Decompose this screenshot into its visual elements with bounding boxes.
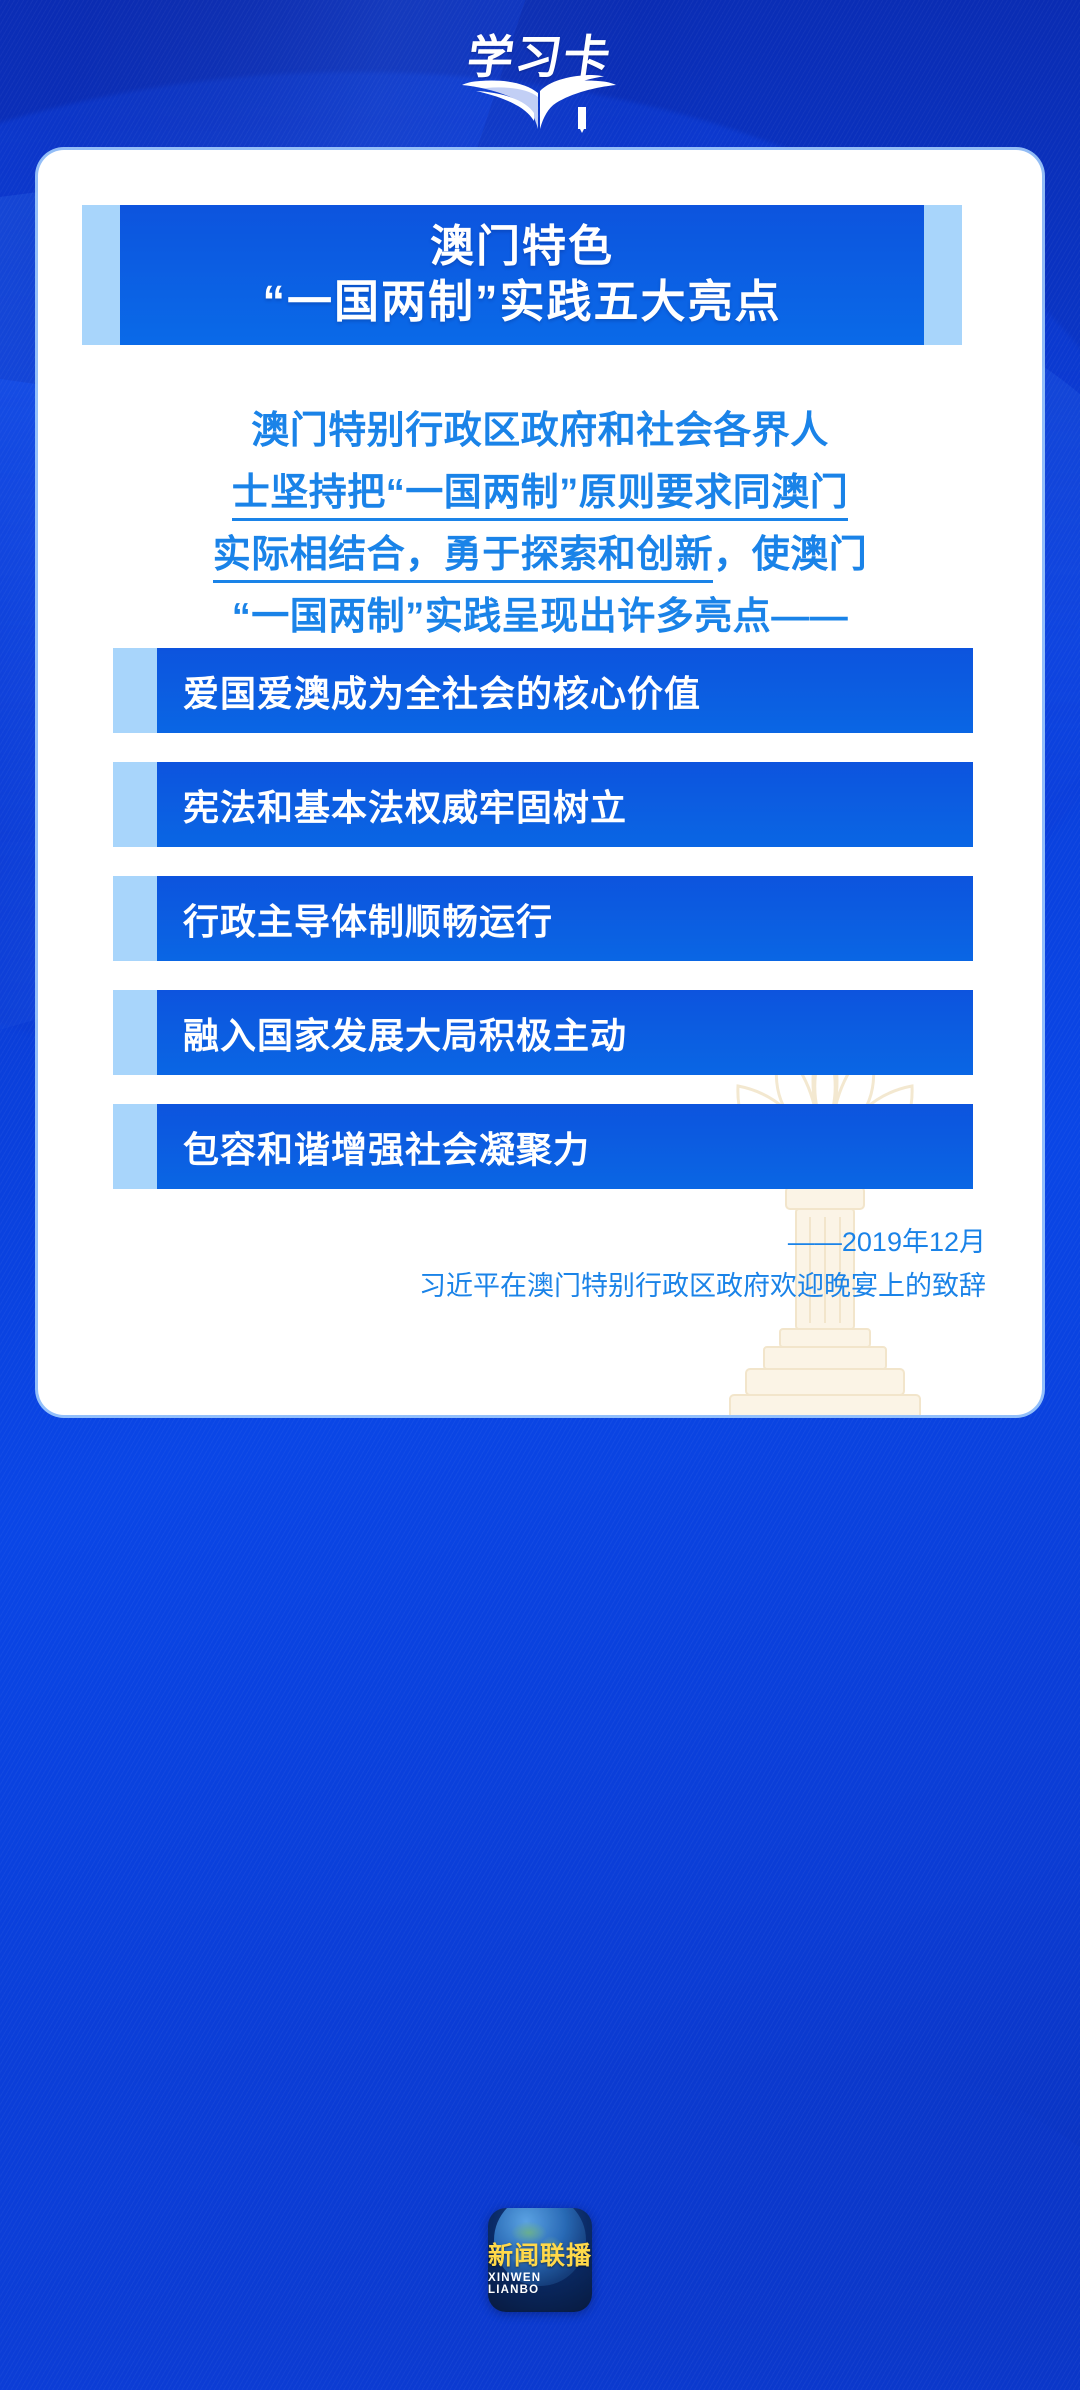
badge-title-en: XINWEN LIANBO bbox=[488, 2273, 592, 2296]
banner-body: 澳门特色 “一国两制”实践五大亮点 bbox=[120, 205, 924, 345]
page-title-line-1: 澳门特色 bbox=[430, 220, 614, 274]
attribution-source: 习近平在澳门特别行政区政府欢迎晚宴上的致辞 bbox=[419, 1264, 986, 1308]
highlight-item-1[interactable]: 爱国爱澳成为全社会的核心价值 bbox=[113, 648, 973, 733]
highlight-body: 爱国爱澳成为全社会的核心价值 bbox=[157, 648, 973, 733]
attribution-date: ——2019年12月 bbox=[419, 1220, 986, 1264]
header: 学习卡 bbox=[0, 0, 1080, 150]
content-card: 澳门特色 “一国两制”实践五大亮点 澳门特别行政区政府和社会各界人 士坚持把“一… bbox=[38, 150, 1042, 1415]
paragraph-line-3: 实际相结合，勇于探索和创新，使澳门 bbox=[98, 524, 982, 586]
paragraph-line-3-tail: ，使澳门 bbox=[713, 534, 867, 576]
page-title-line-2: “一国两制”实践五大亮点 bbox=[262, 275, 781, 330]
highlight-body: 行政主导体制顺畅运行 bbox=[157, 876, 973, 961]
open-book-icon bbox=[460, 63, 620, 133]
highlight-body: 宪法和基本法权威牢固树立 bbox=[157, 762, 973, 847]
paragraph-line-3-underlined: 实际相结合，勇于探索和创新 bbox=[213, 534, 714, 583]
intro-paragraph: 澳门特别行政区政府和社会各界人 士坚持把“一国两制”原则要求同澳门 实际相结合，… bbox=[98, 400, 982, 648]
highlight-label: 融入国家发展大局积极主动 bbox=[183, 1007, 627, 1059]
highlight-item-2[interactable]: 宪法和基本法权威牢固树立 bbox=[113, 762, 973, 847]
xinwen-lianbo-badge[interactable]: 新闻联播 XINWEN LIANBO bbox=[488, 2208, 592, 2312]
highlight-list: 爱国爱澳成为全社会的核心价值 宪法和基本法权威牢固树立 行政主导体制顺畅运行 融… bbox=[113, 648, 973, 1218]
paragraph-line-1: 澳门特别行政区政府和社会各界人 bbox=[98, 400, 982, 462]
highlight-item-5[interactable]: 包容和谐增强社会凝聚力 bbox=[113, 1104, 973, 1189]
highlight-body: 包容和谐增强社会凝聚力 bbox=[157, 1104, 973, 1189]
highlight-label: 包容和谐增强社会凝聚力 bbox=[183, 1121, 590, 1173]
highlight-body: 融入国家发展大局积极主动 bbox=[157, 990, 973, 1075]
highlight-item-3[interactable]: 行政主导体制顺畅运行 bbox=[113, 876, 973, 961]
highlight-label: 爱国爱澳成为全社会的核心价值 bbox=[183, 665, 701, 717]
attribution: ——2019年12月 习近平在澳门特别行政区政府欢迎晚宴上的致辞 bbox=[419, 1220, 986, 1308]
paragraph-line-2-underlined: 士坚持把“一国两制”原则要求同澳门 bbox=[232, 472, 849, 521]
title-banner: 澳门特色 “一国两制”实践五大亮点 bbox=[82, 205, 962, 345]
highlight-item-4[interactable]: 融入国家发展大局积极主动 bbox=[113, 990, 973, 1075]
highlight-label: 行政主导体制顺畅运行 bbox=[183, 893, 553, 945]
paragraph-line-4: “一国两制”实践呈现出许多亮点—— bbox=[98, 586, 982, 648]
paragraph-line-2: 士坚持把“一国两制”原则要求同澳门 bbox=[98, 462, 982, 524]
footer: 新闻联播 XINWEN LIANBO bbox=[0, 2130, 1080, 2390]
badge-title-cn: 新闻联播 bbox=[488, 2244, 592, 2269]
highlight-label: 宪法和基本法权威牢固树立 bbox=[183, 779, 627, 831]
brand-logo: 学习卡 bbox=[425, 15, 655, 135]
